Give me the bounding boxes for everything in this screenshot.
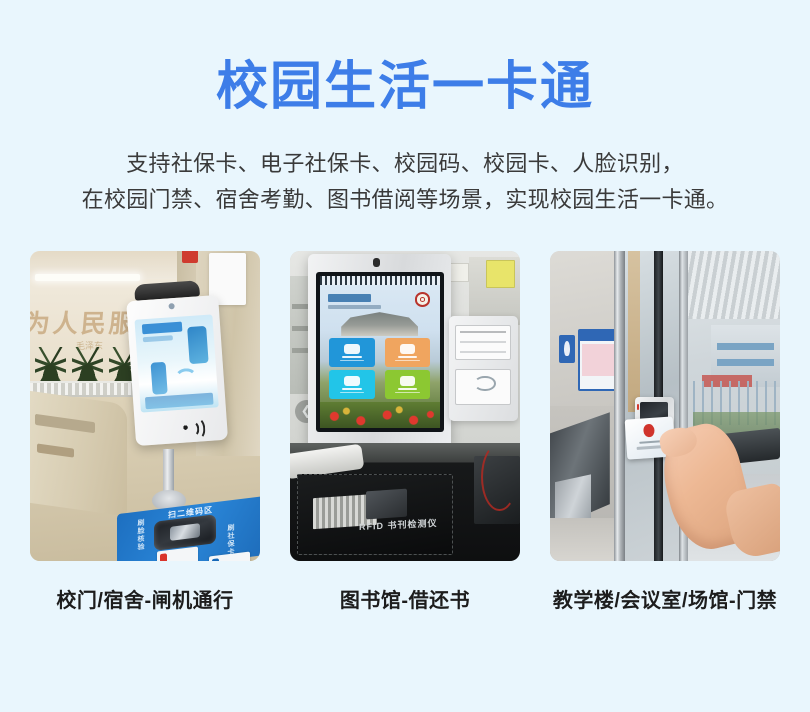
card-caption-gate: 校门/宿舍-闸机通行 — [56, 584, 233, 613]
photo1-screen-footer — [145, 393, 214, 410]
photo1-light-bar — [35, 274, 141, 281]
photo1-gate-left-label: 刷脸核验 — [136, 519, 145, 552]
photo2-tile-renew — [385, 370, 431, 399]
scenario-card-list: 为人民服务 毛泽东 — [30, 251, 780, 613]
photo2-book — [366, 488, 407, 519]
photo-door-access — [550, 251, 780, 561]
photo2-screen-title — [328, 294, 371, 302]
photo2-screen-subtitle — [328, 305, 381, 310]
photo3-notice-header — [580, 331, 617, 341]
photo2-tile-return — [385, 338, 431, 367]
scenario-card-door-access[interactable]: 教学楼/会议室/场馆-门禁 — [550, 251, 780, 613]
card-caption-library: 图书馆-借还书 — [340, 584, 470, 613]
card-icon — [400, 376, 416, 386]
photo3-notice-board — [578, 329, 619, 391]
photo2-tile-search — [329, 370, 375, 399]
photo2-wall-device-panel — [449, 316, 518, 421]
photo1-face-terminal — [125, 279, 229, 459]
photo3-ceiling-slats — [688, 251, 780, 319]
photo-gate-turnstile: 为人民服务 毛泽东 — [30, 251, 260, 561]
photo1-screen-phone-graphic — [187, 326, 208, 365]
return-box-icon — [400, 344, 416, 354]
photo3-card-text-line — [639, 440, 662, 444]
photo2-tile-sublabel — [395, 392, 420, 393]
photo2-yellow-poster — [486, 260, 516, 288]
promo-page: 校园生活一卡通 支持社保卡、电子社保卡、校园码、校园卡、人脸识别， 在校园门禁、… — [0, 0, 810, 712]
photo2-screen-flowerbed-graphic — [320, 402, 440, 428]
photo2-panel-notice — [455, 325, 512, 361]
photo1-screen-subline — [142, 335, 173, 342]
photo1-planter — [35, 347, 141, 384]
photo2-tile-borrow — [329, 338, 375, 367]
photo2-kiosk-camera-icon — [373, 258, 380, 267]
card-caption-door-access: 教学楼/会议室/场馆-门禁 — [553, 584, 777, 613]
subtitle-line-2: 在校园门禁、宿舍考勤、图书借阅等场景，实现校园生活一卡通。 — [82, 182, 729, 218]
book-icon — [344, 344, 360, 354]
photo2-school-emblem-icon — [415, 292, 431, 306]
photo2-tile-sublabel — [395, 360, 420, 361]
photo2-screen-content — [320, 276, 440, 428]
photo1-terminal-body — [126, 295, 228, 447]
photo2-screen-archway-graphic — [341, 312, 418, 336]
photo1-red-sign — [182, 251, 198, 263]
scenario-card-library[interactable]: ❮ — [290, 251, 520, 613]
national-emblem-icon — [643, 424, 655, 438]
photo2-tile-label — [398, 388, 417, 390]
photo2-kiosk-body — [308, 254, 451, 449]
subtitle-line-1: 支持社保卡、电子社保卡、校园码、校园卡、人脸识别， — [82, 146, 729, 182]
page-subtitle: 支持社保卡、电子社保卡、校园码、校园卡、人脸识别， 在校园门禁、宿舍考勤、图书借… — [82, 146, 729, 218]
photo2-kiosk-screen — [316, 272, 444, 432]
photo1-gate-right-label: 刷社保卡 — [226, 523, 235, 556]
photo3-wood-panel — [628, 251, 640, 412]
photo3-wall-sign-icon — [559, 335, 575, 363]
photo1-camera-lens-icon — [169, 303, 175, 309]
photo2-tile-label — [342, 356, 361, 358]
photo2-tile-label — [398, 356, 417, 358]
photo3-interior-floor — [550, 518, 619, 561]
scenario-card-gate[interactable]: 为人民服务 毛泽东 — [30, 251, 260, 613]
photo2-red-cable — [481, 443, 518, 511]
photo1-plant — [72, 347, 103, 384]
search-icon — [344, 376, 360, 386]
photo3-notice-body — [582, 344, 615, 375]
photo2-screen-topbar — [320, 276, 440, 285]
page-title: 校园生活一卡通 — [216, 55, 594, 119]
status-led-icon — [637, 404, 639, 410]
photo-library-kiosk: ❮ — [290, 251, 520, 561]
photo2-tile-sublabel — [340, 392, 365, 393]
photo1-plant — [35, 347, 66, 384]
nfc-wave-icon — [183, 418, 204, 435]
photo3-door-frame — [614, 251, 624, 561]
photo2-tile-sublabel — [340, 360, 365, 361]
photo1-terminal-screen — [135, 314, 219, 412]
photo1-screen-arc-graphic — [174, 367, 199, 389]
photo2-tile-label — [342, 388, 361, 390]
photo1-screen-phone-graphic — [150, 362, 168, 395]
photo2-panel-scan-area — [455, 369, 512, 405]
photo1-screen-headline — [142, 322, 183, 335]
